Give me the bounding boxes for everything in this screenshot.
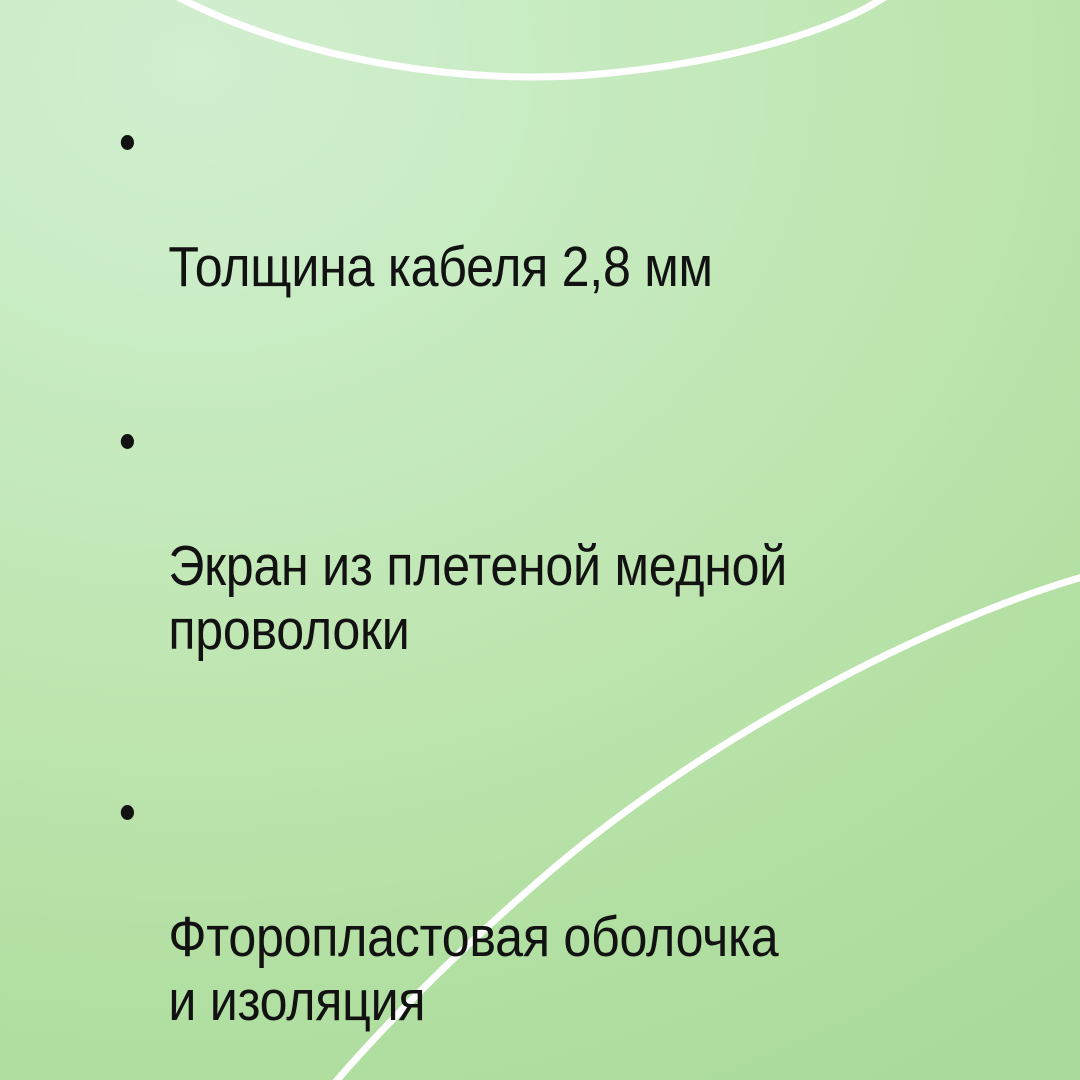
- list-item-label: Фторопластовая оболочка и изоляция: [168, 906, 911, 1034]
- bullet-dot-icon: [121, 135, 134, 150]
- feature-bullet-list: Толщина кабеля 2,8 мм Экран из плетеной …: [0, 0, 1080, 1080]
- bullet-dot-icon: [121, 434, 134, 449]
- list-item-label: Толщина кабеля 2,8 мм: [168, 236, 911, 300]
- list-item: Экран из плетеной медной проволоки: [112, 407, 911, 726]
- bullet-dot-icon: [121, 805, 134, 820]
- list-item: Толщина кабеля 2,8 мм: [112, 108, 911, 363]
- slide-canvas: Толщина кабеля 2,8 мм Экран из плетеной …: [0, 0, 1080, 1080]
- list-item-label: Экран из плетеной медной проволоки: [168, 535, 911, 663]
- list-item: Фторопластовая оболочка и изоляция: [112, 778, 911, 1080]
